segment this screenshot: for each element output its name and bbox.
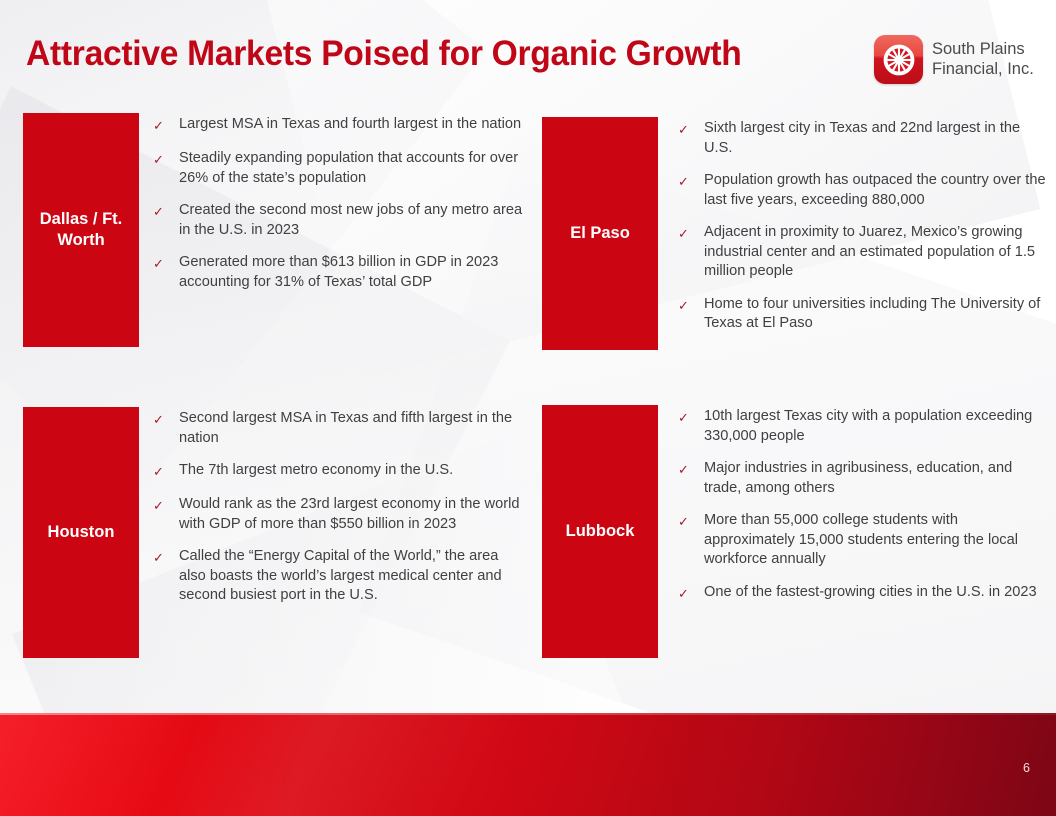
bullet-text: Largest MSA in Texas and fourth largest … bbox=[179, 115, 528, 135]
check-icon: ✓ bbox=[678, 119, 704, 140]
check-icon: ✓ bbox=[153, 495, 179, 516]
check-icon: ✓ bbox=[678, 295, 704, 316]
slide-header: Attractive Markets Poised for Organic Gr… bbox=[0, 0, 1056, 100]
check-icon: ✓ bbox=[153, 547, 179, 568]
check-icon: ✓ bbox=[678, 511, 704, 532]
check-icon: ✓ bbox=[153, 115, 179, 136]
bullet-text: Generated more than $613 billion in GDP … bbox=[179, 253, 528, 292]
list-item: ✓ Would rank as the 23rd largest economy… bbox=[153, 495, 528, 534]
footer-band bbox=[0, 713, 1056, 816]
slide-canvas: Attractive Markets Poised for Organic Gr… bbox=[0, 0, 1056, 816]
bullet-text: 10th largest Texas city with a populatio… bbox=[704, 407, 1047, 446]
bullet-text: Created the second most new jobs of any … bbox=[179, 201, 528, 240]
check-icon: ✓ bbox=[678, 407, 704, 428]
list-item: ✓ Steadily expanding population that acc… bbox=[153, 149, 528, 188]
list-item: ✓ Sixth largest city in Texas and 22nd l… bbox=[678, 119, 1047, 158]
bullet-text: One of the fastest-growing cities in the… bbox=[704, 583, 1047, 603]
list-item: ✓ More than 55,000 college students with… bbox=[678, 511, 1047, 570]
check-icon: ✓ bbox=[678, 223, 704, 244]
page-title: Attractive Markets Poised for Organic Gr… bbox=[26, 34, 742, 74]
check-icon: ✓ bbox=[153, 461, 179, 482]
list-item: ✓ One of the fastest-growing cities in t… bbox=[678, 583, 1047, 604]
check-icon: ✓ bbox=[678, 583, 704, 604]
list-item: ✓ Population growth has outpaced the cou… bbox=[678, 171, 1047, 210]
bullet-text: The 7th largest metro economy in the U.S… bbox=[179, 461, 528, 481]
list-item: ✓ 10th largest Texas city with a populat… bbox=[678, 407, 1047, 446]
bullet-text: More than 55,000 college students with a… bbox=[704, 511, 1047, 570]
page-number: 6 bbox=[1023, 761, 1030, 775]
market-bullets-lubbock: ✓ 10th largest Texas city with a populat… bbox=[658, 405, 1047, 658]
check-icon: ✓ bbox=[678, 459, 704, 480]
list-item: ✓ Created the second most new jobs of an… bbox=[153, 201, 528, 240]
list-item: ✓ Generated more than $613 billion in GD… bbox=[153, 253, 528, 292]
bullet-text: Steadily expanding population that accou… bbox=[179, 149, 528, 188]
list-item: ✓ Second largest MSA in Texas and fifth … bbox=[153, 409, 528, 448]
bullet-text: Population growth has outpaced the count… bbox=[704, 171, 1047, 210]
logo-wordmark: South Plains Financial, Inc. bbox=[932, 40, 1034, 78]
list-item: ✓ Major industries in agribusiness, educ… bbox=[678, 459, 1047, 498]
market-bullets-dallas: ✓ Largest MSA in Texas and fourth larges… bbox=[139, 113, 528, 347]
market-label-houston: Houston bbox=[23, 407, 139, 658]
list-item: ✓ Largest MSA in Texas and fourth larges… bbox=[153, 115, 528, 136]
logo-line-1: South Plains bbox=[932, 40, 1034, 59]
list-item: ✓ Adjacent in proximity to Juarez, Mexic… bbox=[678, 223, 1047, 282]
market-label-dallas: Dallas / Ft. Worth bbox=[23, 113, 139, 347]
market-panel-lubbock: Lubbock ✓ 10th largest Texas city with a… bbox=[542, 405, 1047, 658]
company-logo: South Plains Financial, Inc. bbox=[874, 35, 1034, 84]
check-icon: ✓ bbox=[153, 409, 179, 430]
bullet-text: Adjacent in proximity to Juarez, Mexico’… bbox=[704, 223, 1047, 282]
market-label-el-paso: El Paso bbox=[542, 117, 658, 350]
bullet-text: Second largest MSA in Texas and fifth la… bbox=[179, 409, 528, 448]
list-item: ✓ Home to four universities including Th… bbox=[678, 295, 1047, 334]
list-item: ✓ Called the “Energy Capital of the Worl… bbox=[153, 547, 528, 606]
bullet-text: Major industries in agribusiness, educat… bbox=[704, 459, 1047, 498]
bullet-text: Sixth largest city in Texas and 22nd lar… bbox=[704, 119, 1047, 158]
market-panel-dallas: Dallas / Ft. Worth ✓ Largest MSA in Texa… bbox=[23, 113, 528, 347]
wagon-wheel-icon bbox=[874, 35, 923, 84]
logo-line-2: Financial, Inc. bbox=[932, 60, 1034, 79]
check-icon: ✓ bbox=[153, 253, 179, 274]
bullet-text: Would rank as the 23rd largest economy i… bbox=[179, 495, 528, 534]
bullet-text: Called the “Energy Capital of the World,… bbox=[179, 547, 528, 606]
market-bullets-houston: ✓ Second largest MSA in Texas and fifth … bbox=[139, 407, 528, 658]
market-label-lubbock: Lubbock bbox=[542, 405, 658, 658]
market-panel-el-paso: El Paso ✓ Sixth largest city in Texas an… bbox=[542, 117, 1047, 350]
market-panel-houston: Houston ✓ Second largest MSA in Texas an… bbox=[23, 407, 528, 658]
check-icon: ✓ bbox=[153, 149, 179, 170]
bullet-text: Home to four universities including The … bbox=[704, 295, 1047, 334]
list-item: ✓ The 7th largest metro economy in the U… bbox=[153, 461, 528, 482]
check-icon: ✓ bbox=[678, 171, 704, 192]
market-bullets-el-paso: ✓ Sixth largest city in Texas and 22nd l… bbox=[658, 117, 1047, 350]
check-icon: ✓ bbox=[153, 201, 179, 222]
